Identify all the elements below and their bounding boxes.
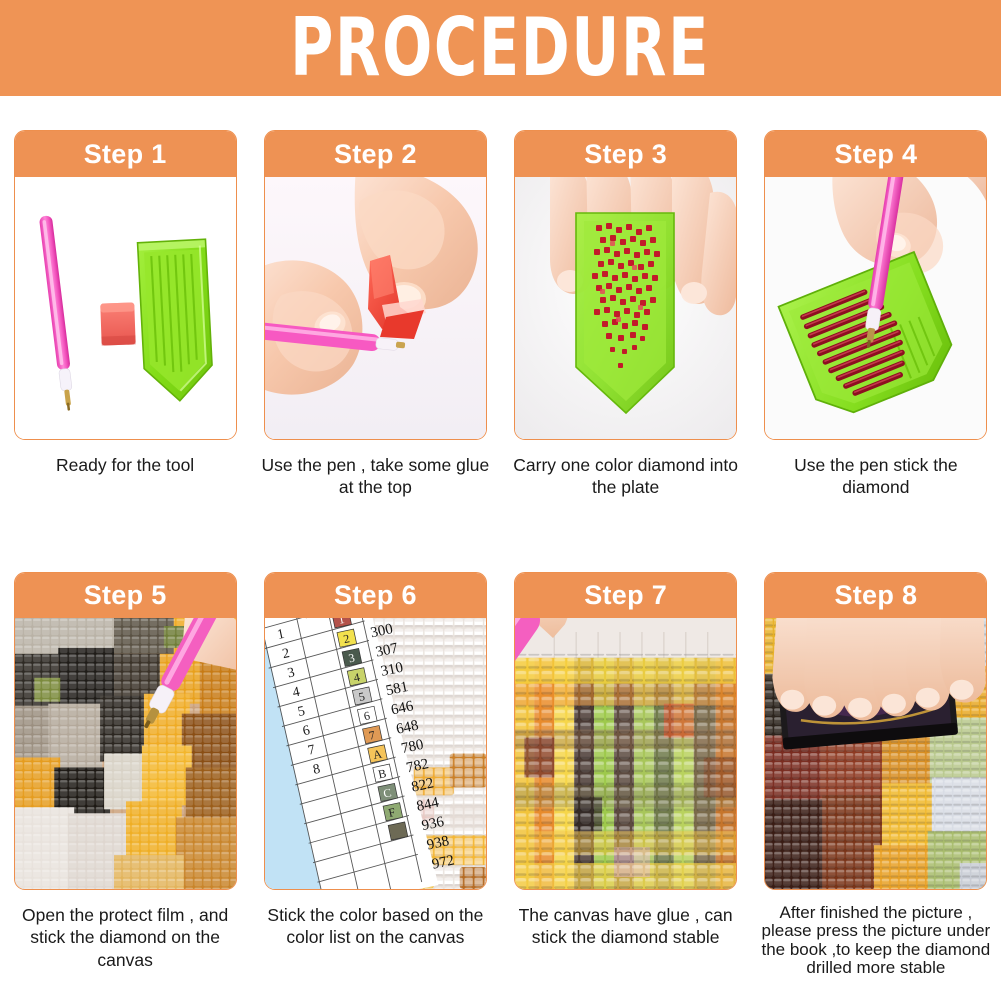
step-3-card[interactable]: Step 3 [514,130,737,440]
page-header-banner: PROCEDURE [0,0,1001,96]
tools-photo [15,177,236,439]
steps-row-bottom: Step 5 [0,572,1001,977]
step-7-caption: The canvas have glue , can stick the dia… [511,904,741,949]
pour-diamonds-photo [515,177,736,439]
step-6-header: Step 6 [265,573,486,618]
step-card-2[interactable]: Step 2 [250,130,500,499]
step-card-1[interactable]: Step 1 [0,130,250,499]
press-book-photo [765,618,986,889]
step-7-card[interactable]: Step 7 [514,572,737,890]
glue-canvas-photo [515,618,736,889]
step-4-header: Step 4 [765,131,986,177]
step-8-header: Step 8 [765,573,986,618]
step-card-3[interactable]: Step 3 [501,130,751,499]
step-8-caption: After finished the picture , please pres… [754,904,997,977]
step-card-5[interactable]: Step 5 [0,572,250,977]
steps-row-top: Step 1 [0,130,1001,499]
page-title: PROCEDURE [291,8,711,88]
step-5-card[interactable]: Step 5 [14,572,237,890]
step-4-caption: Use the pen stick the diamond [761,454,991,499]
color-chart-photo: Serial Symbol DMC [265,618,486,889]
step-5-header: Step 5 [15,573,236,618]
step-2-card[interactable]: Step 2 [264,130,487,440]
step-8-card[interactable]: Step 8 [764,572,987,890]
step-2-header: Step 2 [265,131,486,177]
pick-diamond-photo [765,177,986,439]
step-3-caption: Carry one color diamond into the plate [511,454,741,499]
step-6-caption: Stick the color based on the color list … [260,904,490,949]
step-2-caption: Use the pen , take some glue at the top [260,454,490,499]
step-1-caption: Ready for the tool [10,454,240,476]
step-card-7[interactable]: Step 7 [501,572,751,977]
step-1-header: Step 1 [15,131,236,177]
step-7-header: Step 7 [515,573,736,618]
step-6-card[interactable]: Step 6 [264,572,487,890]
step-5-caption: Open the protect film , and stick the di… [10,904,240,971]
canvas-film-photo [15,618,236,889]
step-card-8[interactable]: Step 8 [751,572,1001,977]
step-card-4[interactable]: Step 4 [751,130,1001,499]
step-4-card[interactable]: Step 4 [764,130,987,440]
step-3-header: Step 3 [515,131,736,177]
step-1-card[interactable]: Step 1 [14,130,237,440]
pen-glue-photo [265,177,486,439]
step-card-6[interactable]: Step 6 [250,572,500,977]
procedure-infographic: PROCEDURE Step 1 [0,0,1001,1001]
